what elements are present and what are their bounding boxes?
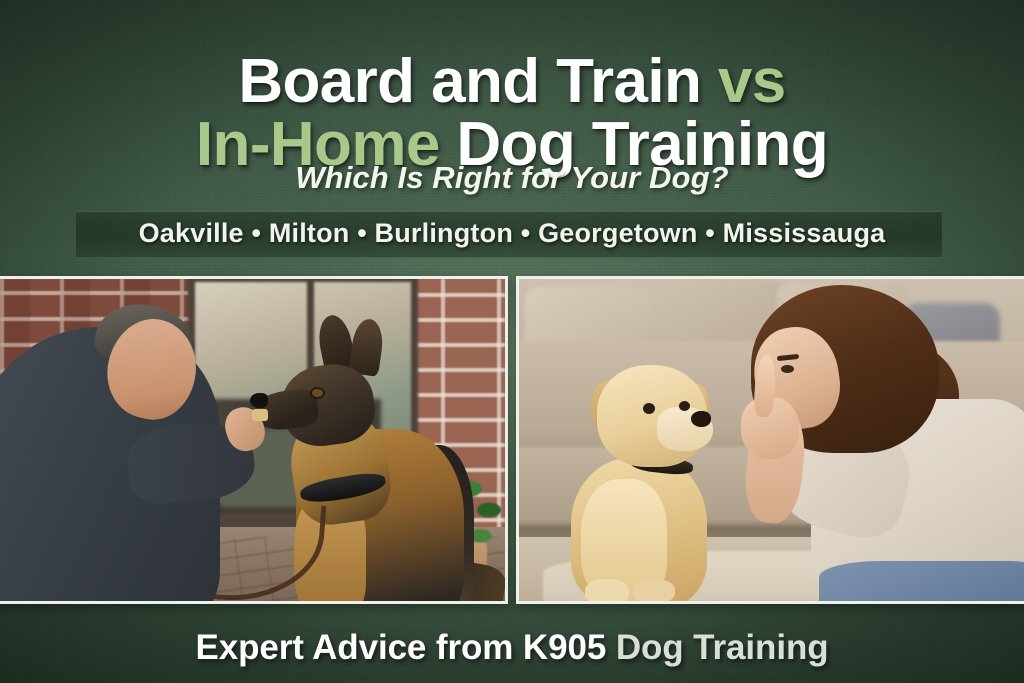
- photo-panel-board-and-train: BOARD AND TRAIN: [0, 276, 508, 604]
- footer-attribution: Expert Advice from K905 Dog Training: [0, 628, 1024, 668]
- comparison-panels: BOARD AND TRAIN: [0, 276, 1024, 604]
- page-subtitle: Which Is Right for Your Dog?: [0, 160, 1024, 196]
- photo-panel-in-home-training: IN-HOME TRAINING: [516, 276, 1024, 604]
- footer-muted-text: Dog Training: [616, 628, 829, 667]
- owner-eye: [781, 365, 794, 373]
- service-area-list: Oakville • Milton • Burlington • Georget…: [0, 218, 1024, 249]
- headline-line-1: Board and Train vs: [0, 50, 1024, 113]
- headline-accent-vs: vs: [718, 47, 786, 116]
- page-title: Board and Train vs In-Home Dog Training: [0, 50, 1024, 176]
- puppy-eye-left: [643, 403, 655, 414]
- footer-main-text: Expert Advice from K905: [195, 628, 606, 667]
- poster-canvas: Board and Train vs In-Home Dog Training …: [0, 0, 1024, 683]
- puppy-eye-right: [679, 401, 690, 411]
- photo-board-and-train: [0, 279, 505, 601]
- dog-treat: [252, 409, 268, 421]
- shepherd-nose: [250, 393, 268, 408]
- headline-main-1: Board and Train: [238, 47, 701, 116]
- owner-jeans: [819, 561, 1024, 601]
- puppy-nose: [691, 411, 711, 427]
- puppy-paw-right: [633, 579, 675, 601]
- puppy-paw-left: [585, 579, 629, 601]
- photo-in-home-training: [519, 279, 1024, 601]
- shepherd-eye: [312, 389, 323, 397]
